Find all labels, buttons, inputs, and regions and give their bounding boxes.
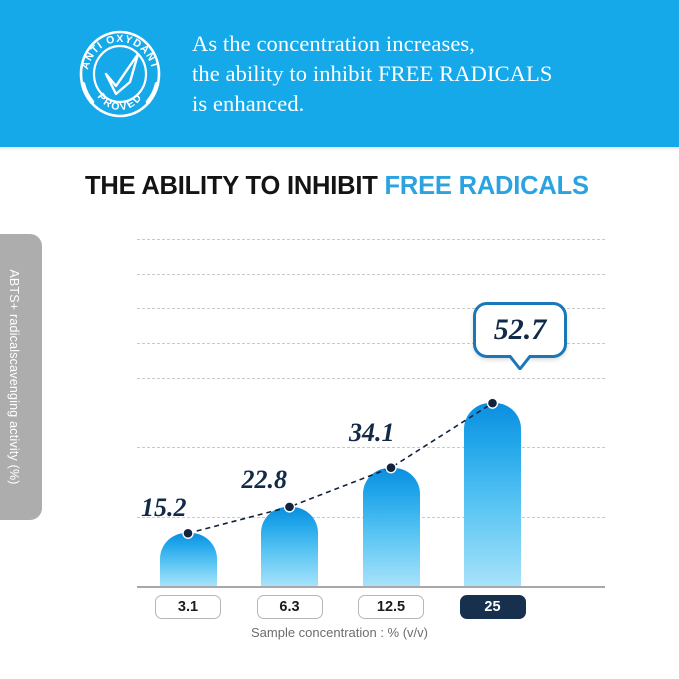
x-axis-pill[interactable]: 12.5: [358, 595, 424, 619]
gridline: [137, 239, 605, 240]
svg-text:PROVED: PROVED: [95, 90, 145, 113]
anti-oxydant-proved-seal: ANTI OXYDANT PROVED: [72, 26, 168, 122]
page-title-part1: THE ABILITY TO INHIBIT: [85, 172, 378, 200]
page-title-highlight: FREE RADICALS: [385, 172, 589, 200]
data-point-marker: [183, 528, 193, 538]
gridline: [137, 586, 605, 587]
x-axis-line: [137, 586, 605, 588]
gridline: [137, 517, 605, 518]
data-point-marker: [386, 463, 396, 473]
data-point-marker: [488, 398, 498, 408]
gridline: [137, 343, 605, 344]
page-title: THE ABILITY TO INHIBIT FREE RADICALS: [85, 172, 589, 201]
bar: [261, 507, 318, 586]
bar: [464, 403, 521, 586]
x-axis-pill[interactable]: 25: [460, 595, 526, 619]
bar: [160, 533, 217, 586]
data-label: 22.8: [242, 465, 288, 495]
x-axis-pill[interactable]: 3.1: [155, 595, 221, 619]
value-callout-text: 52.7: [494, 313, 547, 347]
gridline: [137, 274, 605, 275]
x-axis-pill[interactable]: 6.3: [257, 595, 323, 619]
bar-group: [137, 239, 605, 586]
value-callout: 52.7: [473, 302, 567, 358]
data-point-marker: [285, 502, 295, 512]
y-axis-tab: ABTS+ radicalscavenging activity (%): [0, 234, 42, 520]
gridline: [137, 378, 605, 379]
trend-line: [137, 239, 605, 586]
gridline: [137, 447, 605, 448]
y-axis-label: ABTS+ radicalscavenging activity (%): [7, 269, 21, 484]
gridline: [137, 308, 605, 309]
trend-polyline: [188, 403, 493, 533]
svg-text:ANTI OXYDANT: ANTI OXYDANT: [79, 32, 161, 70]
data-label: 34.1: [349, 418, 395, 448]
top-banner: ANTI OXYDANT PROVED As the concentration…: [0, 0, 679, 147]
data-label: 15.2: [141, 493, 187, 523]
banner-shadow: [0, 147, 679, 151]
banner-headline: As the concentration increases, the abil…: [192, 29, 552, 119]
value-callout-tail: [508, 355, 532, 370]
plot-area: 1009080706040200: [137, 239, 605, 586]
bar: [363, 468, 420, 586]
x-axis-caption: Sample concentration : % (v/v): [0, 625, 679, 640]
